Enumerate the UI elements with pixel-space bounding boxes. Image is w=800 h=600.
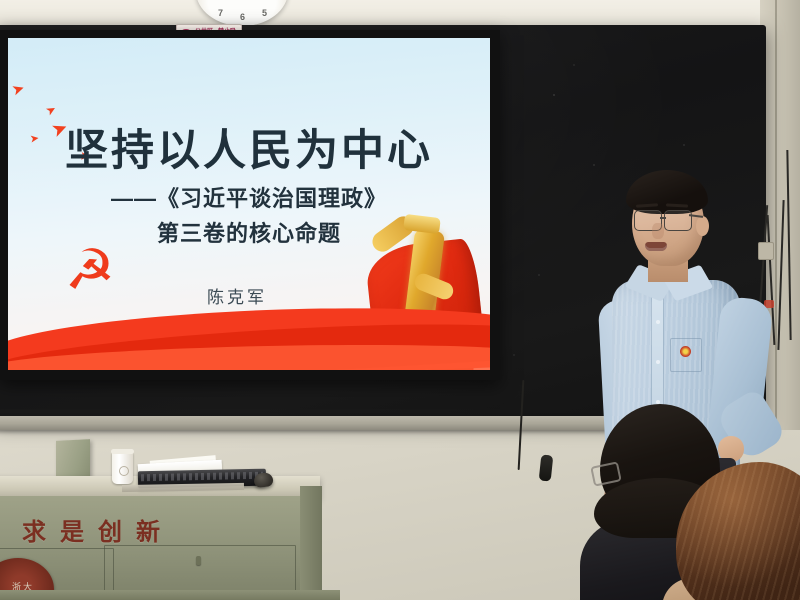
cup-lid (111, 449, 134, 454)
classroom-photo: 7 6 5 公共区域 禁止吸烟 ➤ ➤ ➤ ➤ ➤ ☭ (0, 0, 800, 600)
slide-subtitle-line1: ——《习近平谈治国理政》 (8, 181, 490, 213)
podium-motto: 求是创新 (22, 512, 174, 547)
party-badge-pin (680, 346, 691, 357)
presentation-slide: ➤ ➤ ➤ ➤ ➤ ☭ ★ ★ ★ 坚持以人民为中心 ——《习近平谈治国理政》 (8, 38, 490, 370)
cup-logo (119, 466, 129, 476)
slide-author: 陈克军 (8, 283, 490, 308)
podium-right-edge (300, 486, 322, 600)
bird-icon: ➤ (10, 80, 27, 98)
floor-strip (0, 590, 340, 600)
glasses-lens-right (664, 210, 692, 231)
lecturer-nose (652, 223, 664, 239)
audience-member-second (676, 462, 800, 600)
shirt-button (656, 320, 660, 324)
lecturer-ear (696, 216, 709, 236)
shirt-button (656, 360, 660, 364)
clock-tick-7: 7 (218, 8, 223, 18)
projection-screen[interactable]: ➤ ➤ ➤ ➤ ➤ ☭ ★ ★ ★ 坚持以人民为中心 ——《习近平谈治国理政》 (0, 30, 500, 380)
glasses-bridge (660, 217, 666, 219)
audience-second-hair (676, 462, 800, 600)
podium-door-knob[interactable] (196, 556, 201, 565)
slide-title: 坚持以人民为中心 (8, 116, 490, 178)
slide-subtitle-line2: 第三卷的核心命题 (8, 216, 490, 248)
clock-tick-6: 6 (240, 12, 245, 22)
clock-tick-5: 5 (262, 8, 267, 18)
paper-cup[interactable] (112, 452, 133, 484)
lecturer-mouth (645, 242, 667, 251)
